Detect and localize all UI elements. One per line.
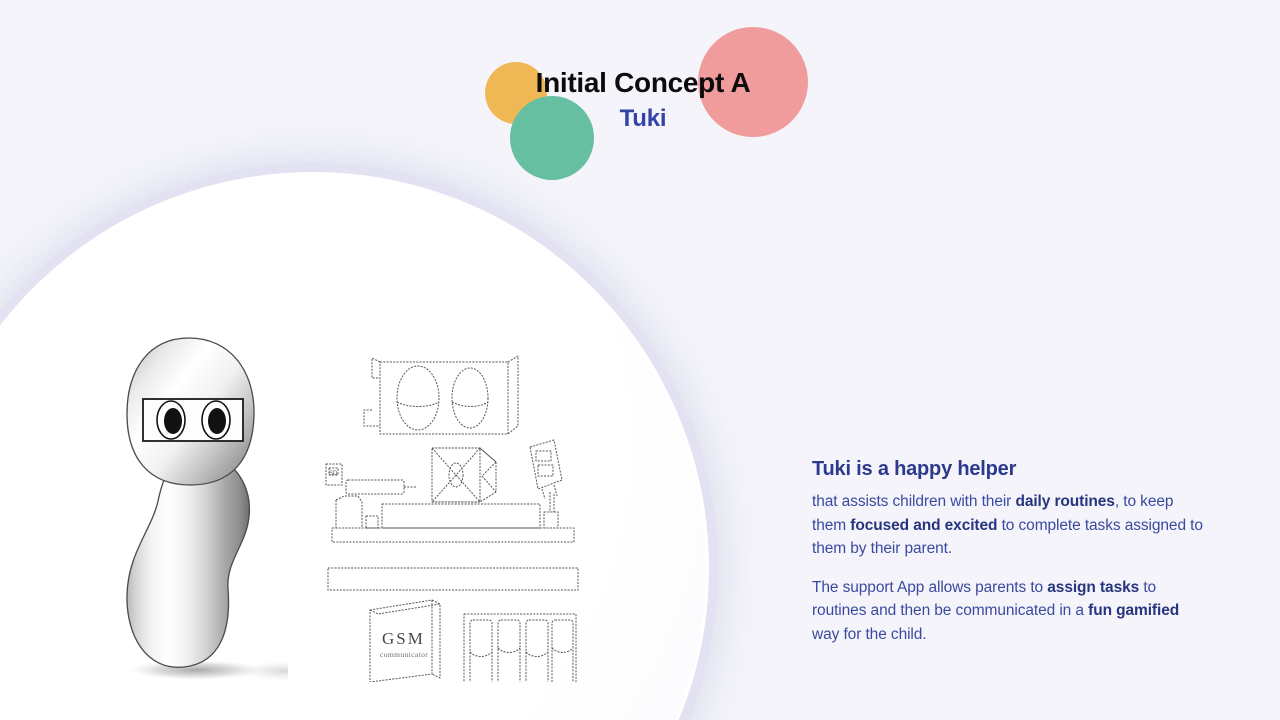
page-subtitle: Tuki xyxy=(3,105,1280,133)
slide-header: Initial Concept A Tuki xyxy=(0,0,1280,175)
page-title: Initial Concept A xyxy=(3,66,1280,99)
robot-pupil-right xyxy=(208,408,226,434)
robot-pupil-left xyxy=(164,408,182,434)
sketch-sd-label: SD xyxy=(329,471,338,477)
p1-text-1: that assists children with their xyxy=(812,493,1015,510)
sketch-gsm-label: GSM xyxy=(382,629,425,648)
sketch-button-panel xyxy=(530,440,562,499)
internal-components-sketch: GSM communicator SD xyxy=(322,352,590,682)
copy-paragraph-1: that assists children with their daily r… xyxy=(812,490,1204,561)
p1-bold-1: daily routines xyxy=(1015,493,1114,510)
sketch-gsm-sublabel: communicator xyxy=(380,650,428,659)
sketch-pcb-board xyxy=(332,492,574,542)
p2-text-3: way for the child. xyxy=(812,626,927,643)
p2-bold-2: fun gamified xyxy=(1088,602,1179,619)
copy-heading: Tuki is a happy helper xyxy=(812,458,1204,481)
p1-bold-2: focused and excited xyxy=(850,517,997,534)
sketch-flat-bar xyxy=(328,568,578,590)
sketch-antenna xyxy=(346,480,416,494)
tuki-robot-illustration xyxy=(118,333,288,693)
sketch-battery-pack xyxy=(464,614,576,682)
sketch-speaker xyxy=(432,448,496,502)
p2-bold-1: assign tasks xyxy=(1047,579,1139,596)
sketch-eye-module xyxy=(364,356,518,434)
title-block: Initial Concept A Tuki xyxy=(0,66,1280,133)
description-block: Tuki is a happy helper that assists chil… xyxy=(812,458,1204,646)
p2-text-1: The support App allows parents to xyxy=(812,579,1047,596)
copy-paragraph-2: The support App allows parents to assign… xyxy=(812,576,1204,647)
